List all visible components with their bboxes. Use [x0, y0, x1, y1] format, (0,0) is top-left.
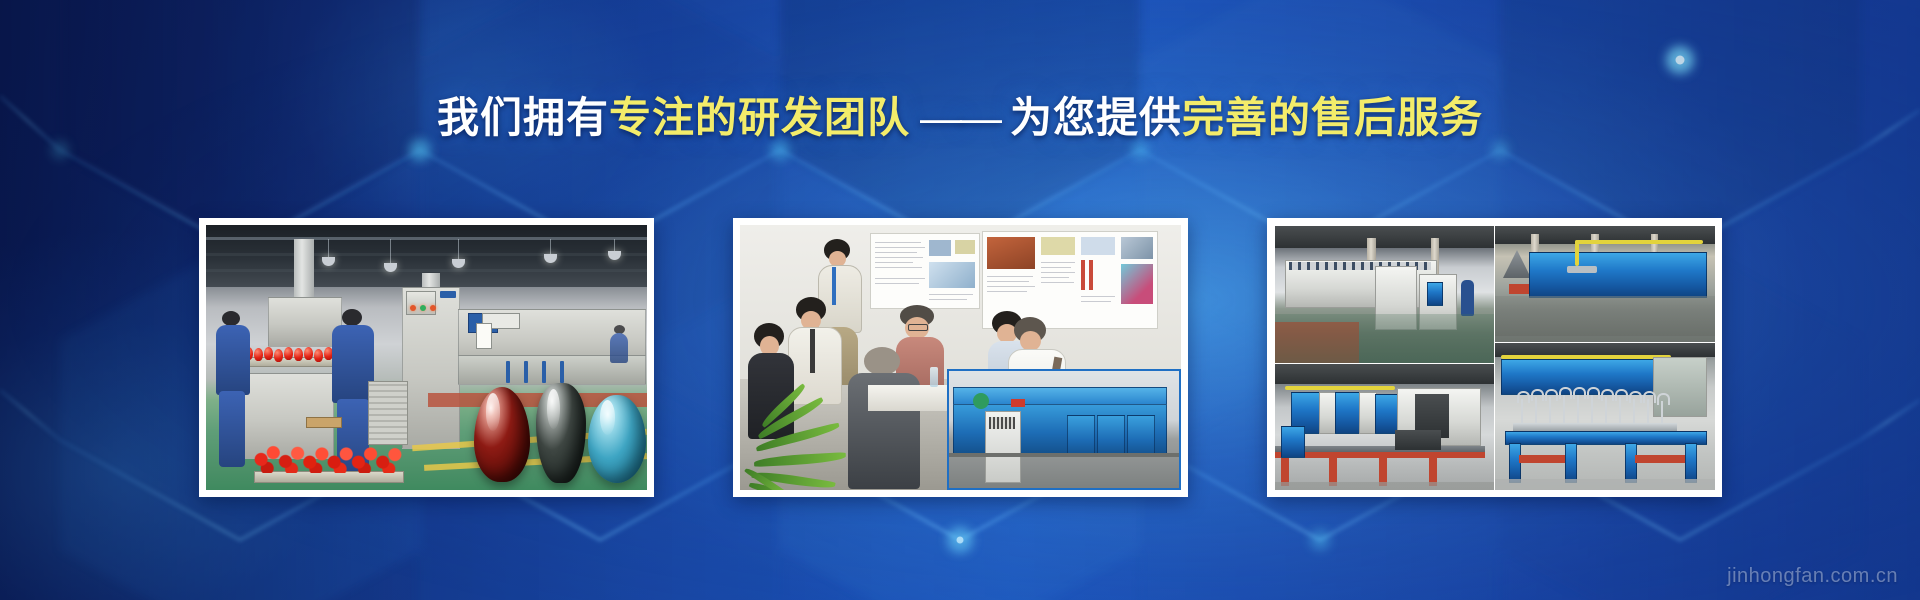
headline-separator: ——: [910, 94, 1010, 142]
glass-vase-red: [474, 387, 530, 482]
collage-tile-blue-tunnel: [1494, 225, 1715, 344]
photo-factory-production-line: 工厂生产车间 - 工人与红色玻璃制品、彩色玻璃花瓶: [206, 225, 647, 490]
promo-banner: 我们拥有专注的研发团队——为您提供完善的售后服务: [0, 0, 1920, 600]
plastic-crate: [368, 381, 408, 445]
photo-frame-equipment-collage[interactable]: 设备拼图 - 蓝色工业生产线与输送系统: [1267, 218, 1722, 497]
photo-caption: 工厂生产车间 - 工人与红色玻璃制品、彩色玻璃花瓶: [206, 477, 647, 490]
page-title: 我们拥有专注的研发团队——为您提供完善的售后服务: [0, 84, 1920, 145]
worker-silhouette: [1461, 280, 1474, 316]
headline-segment-1: 我们拥有: [437, 94, 609, 141]
photo-caption: 技术交流会议 - 工程师与客户讨论, 背景技术展板, 蓝色生产设备: [740, 477, 1181, 490]
headline-highlight-1: 专注的研发团队: [609, 94, 910, 141]
technical-poster-board: [870, 233, 980, 309]
photo-caption: 设备拼图 - 蓝色工业生产线与输送系统: [1274, 477, 1715, 490]
headline-highlight-2: 完善的售后服务: [1182, 94, 1483, 141]
photo-frame-factory-production-line[interactable]: 工厂生产车间 - 工人与红色玻璃制品、彩色玻璃花瓶: [199, 218, 654, 497]
exhaust-hood: [1503, 250, 1531, 278]
water-bottle: [930, 367, 938, 387]
photo-gallery-row: 工厂生产车间 - 工人与红色玻璃制品、彩色玻璃花瓶: [0, 218, 1920, 508]
glass-vase-grey: [536, 383, 586, 483]
headline-segment-2: 为您提供: [1010, 94, 1182, 141]
inset-production-line-photo: [947, 369, 1180, 490]
photo-equipment-collage: 设备拼图 - 蓝色工业生产线与输送系统: [1274, 225, 1715, 490]
photo-frame-technical-meeting[interactable]: 技术交流会议 - 工程师与客户讨论, 背景技术展板, 蓝色生产设备: [733, 218, 1188, 497]
red-glass-bulb-pile: [252, 439, 404, 473]
collage-tile-cabinet-line: [1274, 225, 1497, 365]
photo-technical-meeting: 技术交流会议 - 工程师与客户讨论, 背景技术展板, 蓝色生产设备: [740, 225, 1181, 490]
site-watermark: jinhongfan.com.cn: [1727, 565, 1898, 588]
collage-tile-conveyor-line: [1274, 363, 1497, 490]
glass-vase-blue: [588, 395, 646, 483]
collage-tile-hook-conveyor: [1494, 342, 1715, 490]
